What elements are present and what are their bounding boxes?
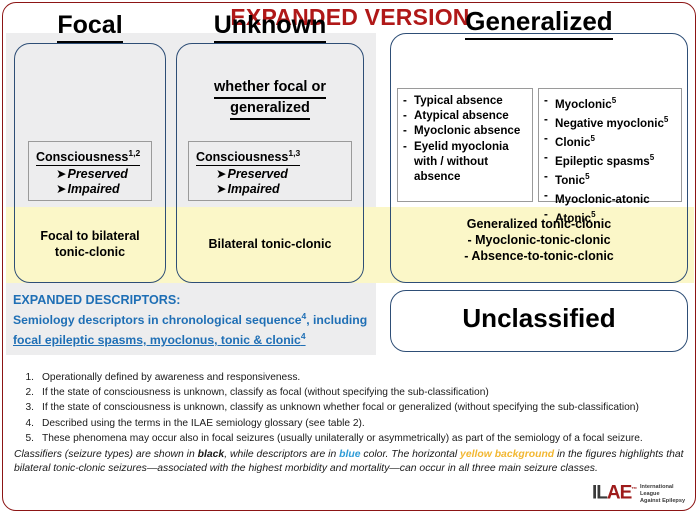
- arrow-bullet-icon: ➤: [216, 167, 226, 181]
- dash-bullet-icon: -: [544, 169, 548, 184]
- list-item: -Clonic5: [543, 131, 678, 150]
- ilae-logo: ILAE™ International League Against Epile…: [592, 480, 688, 506]
- focal-consciousness-label: Consciousness1,2: [36, 146, 140, 166]
- unknown-consciousness-item-impaired: ➤Impaired: [196, 182, 345, 197]
- focal-yellow-text: Focal to bilateral tonic-clonic: [14, 228, 166, 260]
- unknown-consciousness-label: Consciousness1,3: [196, 146, 300, 166]
- descriptors-line-1: Semiology descriptors in chronological s…: [13, 308, 371, 328]
- dash-bullet-icon: -: [544, 112, 548, 127]
- footnote-item: 2.If the state of consciousness is unkno…: [16, 386, 686, 400]
- figure-caption: Classifiers (seizure types) are shown in…: [14, 448, 686, 477]
- footnotes-list: 1.Operationally defined by awareness and…: [16, 371, 686, 447]
- footnote-item: 4.Described using the terms in the ILAE …: [16, 417, 686, 431]
- dash-bullet-icon: -: [544, 93, 548, 108]
- footnote-item: 1.Operationally defined by awareness and…: [16, 371, 686, 385]
- focal-heading-text: Focal: [57, 11, 122, 43]
- generalized-right-list: -Myoclonic5 -Negative myoclonic5 -Clonic…: [538, 88, 682, 202]
- figure-root: EXPANDED VERSION Focal Consciousness1,2 …: [0, 0, 700, 515]
- list-item: -Myoclonic-atonic: [543, 188, 678, 207]
- unknown-subheading: whether focal or generalized: [176, 78, 364, 120]
- dash-bullet-icon: -: [403, 93, 407, 108]
- arrow-bullet-icon: ➤: [56, 167, 66, 181]
- unknown-consciousness-box: Consciousness1,3 ➤Preserved ➤Impaired: [188, 141, 352, 201]
- dash-bullet-icon: -: [403, 123, 407, 138]
- list-item: -Negative myoclonic5: [543, 112, 678, 131]
- expanded-descriptors-block: EXPANDED DESCRIPTORS: Semiology descript…: [13, 292, 371, 348]
- descriptors-line-2[interactable]: focal epileptic spasms, myoclonus, tonic…: [13, 328, 371, 348]
- focal-consciousness-item-preserved: ➤Preserved: [36, 167, 145, 182]
- generalized-yellow-text: Generalized tonic-clonic - Myoclonic-ton…: [390, 216, 688, 264]
- footnote-item: 5.These phenomena may occur also in foca…: [16, 432, 686, 446]
- list-item: -Typical absence: [402, 93, 529, 108]
- list-item-continuation: with / without: [414, 154, 529, 169]
- list-item: -Myoclonic5: [543, 93, 678, 112]
- unknown-consciousness-item-preserved: ➤Preserved: [196, 167, 345, 182]
- generalized-heading: Generalized: [390, 6, 688, 40]
- focal-consciousness-sup: 1,2: [128, 148, 140, 158]
- unknown-yellow-text: Bilateral tonic-clonic: [176, 236, 364, 252]
- unknown-yellow-line: Bilateral tonic-clonic: [176, 236, 364, 252]
- generalized-yellow-line3: - Absence-to-tonic-clonic: [390, 248, 688, 264]
- arrow-bullet-icon: ➤: [216, 182, 226, 196]
- focal-yellow-line2: tonic-clonic: [14, 244, 166, 260]
- dash-bullet-icon: -: [544, 150, 548, 165]
- trademark-icon: ™: [631, 487, 636, 493]
- list-item: -Atypical absence: [402, 108, 529, 123]
- focal-yellow-line1: Focal to bilateral: [14, 228, 166, 244]
- unclassified-label: Unclassified: [390, 303, 688, 334]
- arrow-bullet-icon: ➤: [56, 182, 66, 196]
- unknown-heading-text: Unknown: [214, 11, 327, 43]
- dash-bullet-icon: -: [403, 108, 407, 123]
- focal-heading: Focal: [14, 11, 166, 43]
- generalized-left-list: -Typical absence -Atypical absence -Myoc…: [397, 88, 533, 202]
- unknown-subheading-line1: whether focal or: [214, 78, 326, 99]
- ilae-logo-mark: ILAE™: [592, 481, 636, 502]
- ilae-logo-text: International League Against Epilepsy: [640, 484, 688, 505]
- generalized-yellow-line1: Generalized tonic-clonic: [390, 216, 688, 232]
- list-item: -Myoclonic absence: [402, 123, 529, 138]
- dash-bullet-icon: -: [403, 139, 407, 154]
- unknown-subheading-line2: generalized: [230, 99, 310, 120]
- list-item-continuation: absence: [414, 169, 529, 184]
- list-item: -Epileptic spasms5: [543, 150, 678, 169]
- list-item: -Tonic5: [543, 169, 678, 188]
- generalized-yellow-line2: - Myoclonic-tonic-clonic: [390, 232, 688, 248]
- footnote-item: 3.If the state of consciousness is unkno…: [16, 401, 686, 415]
- list-item: -Eyelid myoclonia with / without absence: [402, 139, 529, 185]
- unknown-consciousness-sup: 1,3: [288, 148, 300, 158]
- focal-consciousness-box: Consciousness1,2 ➤Preserved ➤Impaired: [28, 141, 152, 201]
- dash-bullet-icon: -: [544, 188, 548, 203]
- generalized-heading-text: Generalized: [465, 6, 612, 40]
- focal-consciousness-item-impaired: ➤Impaired: [36, 182, 145, 197]
- unknown-heading: Unknown: [176, 11, 364, 43]
- dash-bullet-icon: -: [544, 131, 548, 146]
- descriptors-title: EXPANDED DESCRIPTORS:: [13, 292, 371, 308]
